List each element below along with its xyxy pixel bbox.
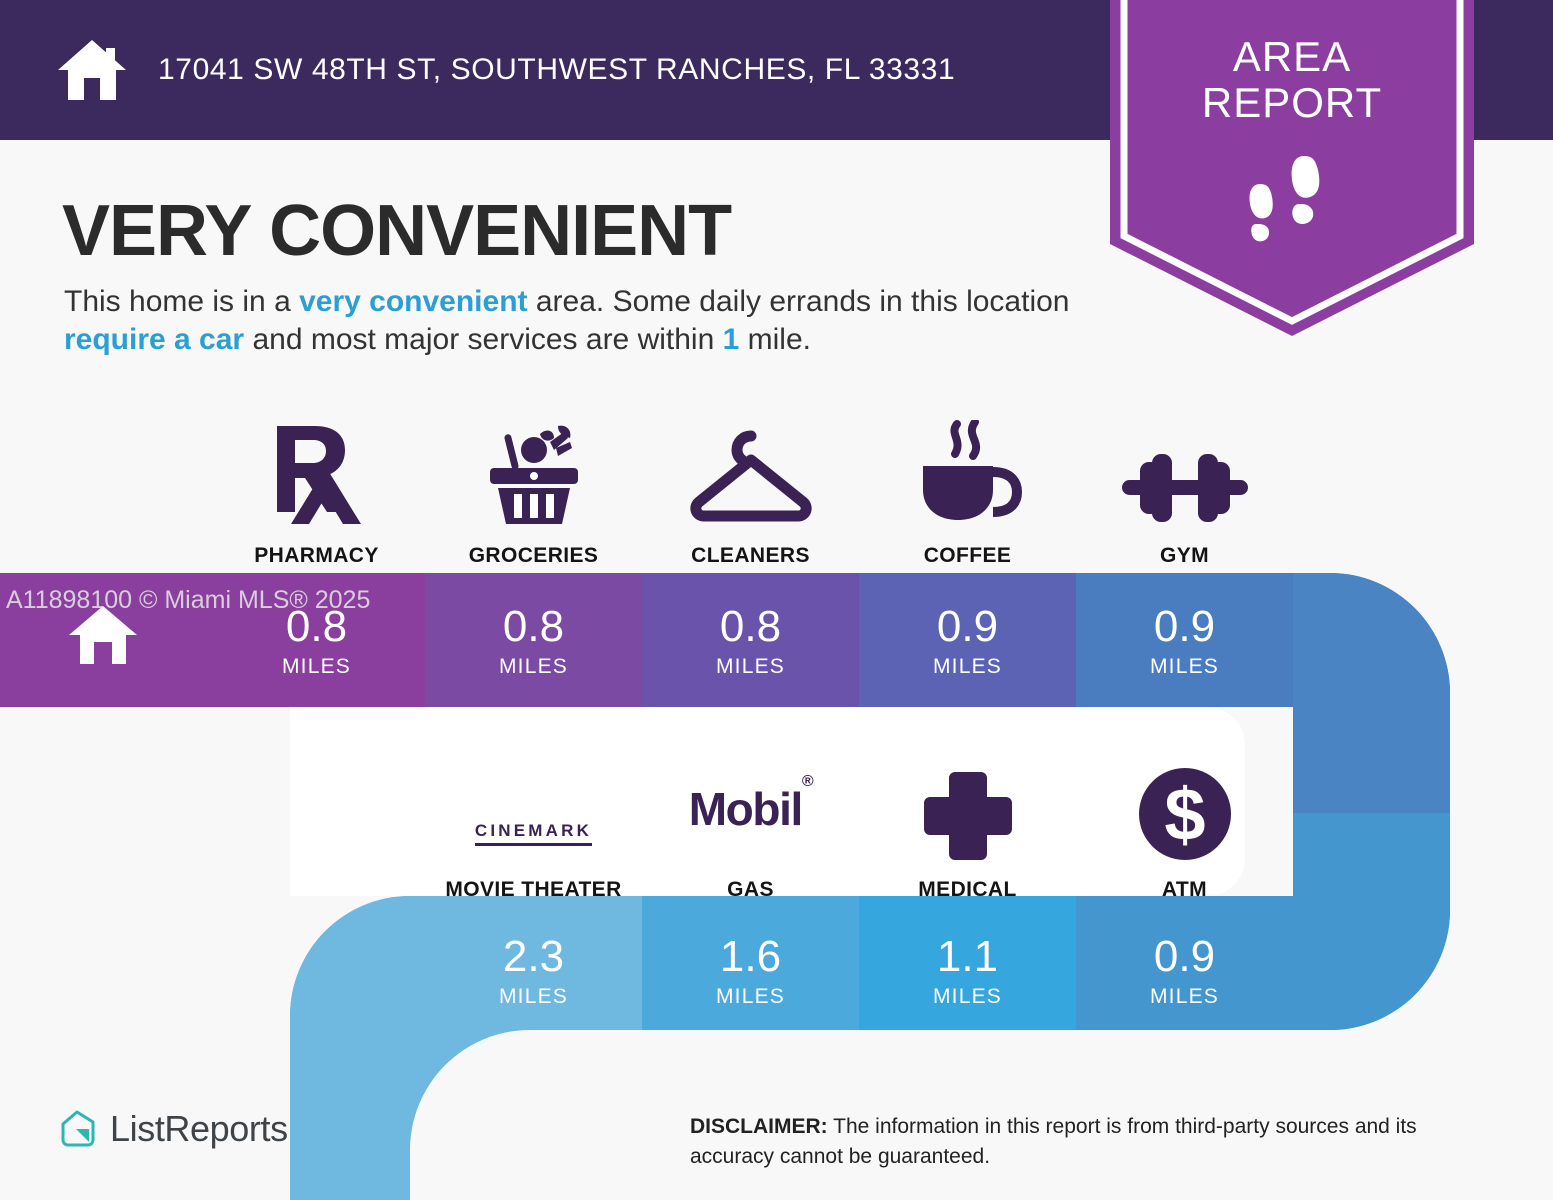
amenity-label: CLEANERS (691, 544, 810, 568)
listreports-house-icon (58, 1109, 98, 1149)
mobil-logo: Mobil® (689, 752, 812, 862)
amenity-label: PHARMACY (254, 544, 379, 568)
amenity-groceries: GROCERIES (425, 418, 642, 568)
summary-highlight-require-car: require a car (64, 323, 244, 356)
segment-atm (1076, 896, 1293, 1030)
amenity-label: GROCERIES (469, 544, 599, 568)
cinemark-wordmark: CINEMARK (475, 821, 592, 846)
medical-cross-icon (922, 752, 1014, 862)
svg-text:$: $ (1164, 773, 1205, 856)
summary-part-3: and most major services are within (244, 323, 723, 356)
header-bar: 17041 SW 48TH ST, SOUTHWEST RANCHES, FL … (0, 0, 1096, 140)
home-icon (56, 38, 128, 102)
disclaimer-label: DISCLAIMER: (690, 1115, 828, 1138)
dollar-circle-icon: $ (1137, 752, 1233, 862)
summary-highlight-miles: 1 (723, 323, 740, 356)
amenity-icon-row-1: PHARMACY (208, 418, 1293, 568)
listreports-wordmark: ListReports (110, 1108, 288, 1150)
amenity-label: GYM (1160, 544, 1209, 568)
amenity-cleaners: CLEANERS (642, 418, 859, 568)
dumbbell-icon (1122, 418, 1248, 528)
property-address: 17041 SW 48TH ST, SOUTHWEST RANCHES, FL … (158, 53, 955, 87)
distance-row-2-segments (410, 896, 1293, 1030)
clothes-hanger-icon (685, 418, 817, 528)
amenity-pharmacy: PHARMACY (208, 418, 425, 568)
page-title: VERY CONVENIENT (62, 190, 731, 272)
segment-cleaners (642, 573, 859, 707)
mobil-wordmark: Mobil® (689, 782, 812, 836)
amenity-label: MOVIE THEATER (445, 878, 621, 902)
listreports-logo: ListReports (58, 1108, 288, 1150)
amenity-label: COFFEE (924, 544, 1012, 568)
amenity-icon-row-2: CINEMARK MOVIE THEATER Mobil® GAS MEDICA… (425, 752, 1293, 902)
distance-track-right-connector (1293, 573, 1450, 1030)
summary-paragraph: This home is in a very convenient area. … (64, 283, 1104, 359)
amenity-label: ATM (1162, 878, 1207, 902)
area-report-page: 17041 SW 48TH ST, SOUTHWEST RANCHES, FL … (0, 0, 1553, 1200)
amenity-atm: $ ATM (1076, 752, 1293, 902)
segment-coffee (859, 573, 1076, 707)
segment-gas (642, 896, 859, 1030)
amenity-medical: MEDICAL (859, 752, 1076, 902)
area-report-banner: AREA REPORT (1110, 0, 1474, 336)
grocery-basket-icon (478, 418, 590, 528)
rx-icon (269, 418, 365, 528)
cinemark-logo: CINEMARK (475, 752, 592, 862)
amenity-label: GAS (727, 878, 774, 902)
summary-part-2: area. Some daily errands in this locatio… (528, 285, 1070, 318)
segment-groceries (425, 573, 642, 707)
mls-watermark: A11898100 © Miami MLS® 2025 (6, 586, 370, 615)
amenity-gas: Mobil® GAS (642, 752, 859, 902)
summary-part-4: mile. (739, 323, 811, 356)
segment-gym (1076, 573, 1293, 707)
disclaimer: DISCLAIMER: The information in this repo… (690, 1112, 1495, 1172)
segment-movie-theater (425, 896, 642, 1030)
amenity-movie-theater: CINEMARK MOVIE THEATER (425, 752, 642, 902)
summary-part-1: This home is in a (64, 285, 299, 318)
coffee-cup-icon (913, 418, 1023, 528)
segment-medical (859, 896, 1076, 1030)
amenity-label: MEDICAL (918, 878, 1016, 902)
amenity-coffee: COFFEE (859, 418, 1076, 568)
amenity-gym: GYM (1076, 418, 1293, 568)
summary-highlight-convenient: very convenient (299, 285, 527, 318)
